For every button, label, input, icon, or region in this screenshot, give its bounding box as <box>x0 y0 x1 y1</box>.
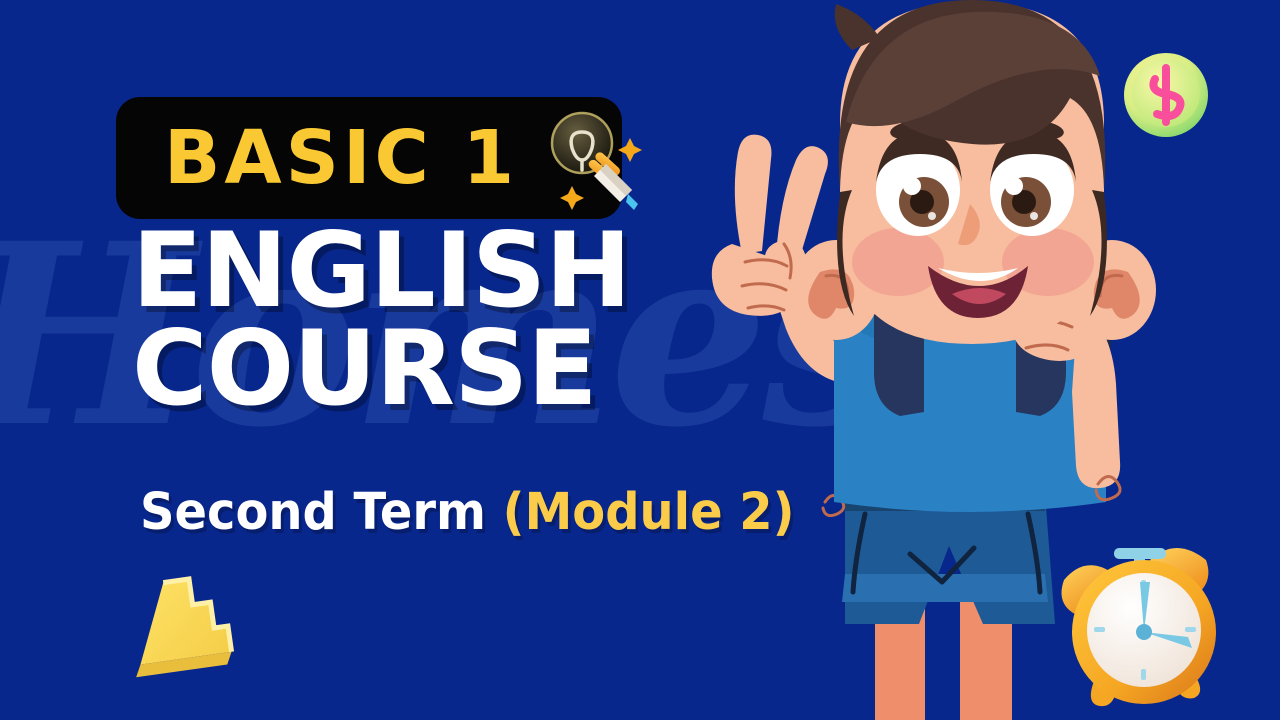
level-badge[interactable]: BASIC 1 <box>116 97 622 219</box>
stairs-icon <box>128 575 228 685</box>
poster-canvas: Homes <box>0 0 1280 720</box>
subtitle-module: (Module 2) <box>503 483 795 542</box>
lightbulb-pencil-icon <box>542 108 646 208</box>
page-title: ENGLISH COURSE <box>132 222 752 418</box>
subtitle-term: Second Term <box>140 483 486 542</box>
subtitle: Second Term (Module 2) <box>140 487 795 538</box>
coin-icon <box>1122 50 1210 138</box>
title-line-2: COURSE <box>132 320 752 418</box>
level-badge-label: BASIC 1 <box>164 121 518 195</box>
clock-icon <box>1040 528 1230 713</box>
